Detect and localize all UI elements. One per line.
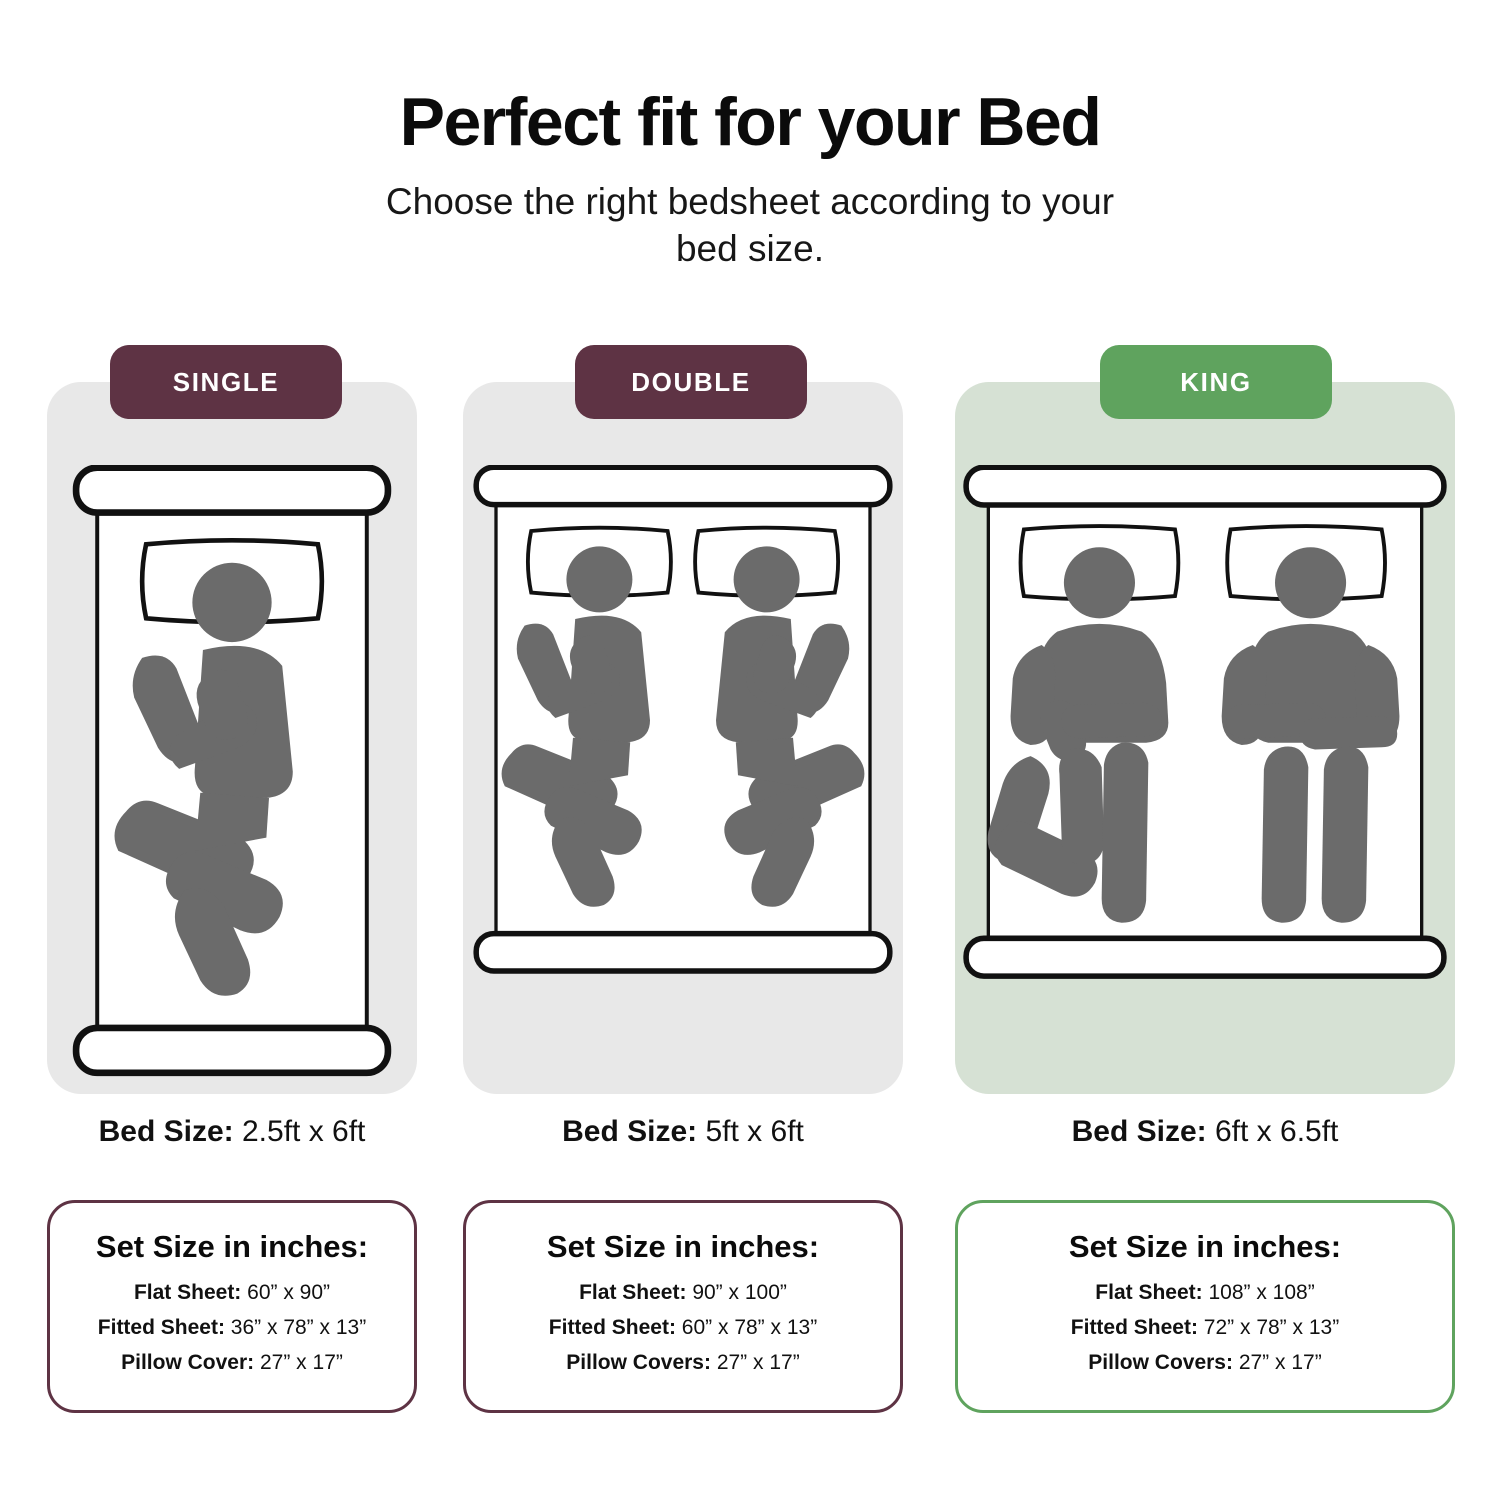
bedsize-label: Bed Size: — [562, 1115, 697, 1148]
bedsize-label: Bed Size: — [99, 1115, 234, 1148]
bed-illustration-single — [47, 465, 417, 1086]
page-subtitle: Choose the right bedsheet according to y… — [370, 178, 1130, 273]
row-label: Fitted Sheet: — [98, 1316, 225, 1339]
bedsize-value: 6ft x 6.5ft — [1215, 1115, 1338, 1148]
bedsize-caption-double: Bed Size: 5ft x 6ft — [463, 1115, 903, 1149]
bed-illustration-double — [463, 465, 903, 982]
row-label: Pillow Covers: — [1088, 1351, 1233, 1374]
infographic-page: Perfect fit for your Bed Choose the righ… — [0, 0, 1500, 1500]
card-row: Fitted Sheet: 60” x 78” x 13” — [480, 1316, 886, 1340]
row-value: 27” x 17” — [1239, 1351, 1322, 1374]
row-label: Flat Sheet: — [579, 1281, 686, 1304]
row-value: 72” x 78” x 13” — [1204, 1316, 1339, 1339]
row-label: Pillow Cover: — [121, 1351, 254, 1374]
card-row: Fitted Sheet: 36” x 78” x 13” — [64, 1316, 400, 1340]
badge-double[interactable]: DOUBLE — [575, 345, 807, 419]
row-value: 27” x 17” — [717, 1351, 800, 1374]
badge-single[interactable]: SINGLE — [110, 345, 342, 419]
bed-size-columns: SINGLE — [0, 345, 1500, 1445]
set-size-card-single: Set Size in inches: Flat Sheet: 60” x 90… — [47, 1200, 417, 1413]
row-label: Fitted Sheet: — [1071, 1316, 1198, 1339]
card-title: Set Size in inches: — [64, 1229, 400, 1265]
bedsize-value: 5ft x 6ft — [705, 1115, 803, 1148]
row-value: 60” x 90” — [247, 1281, 330, 1304]
set-size-card-double: Set Size in inches: Flat Sheet: 90” x 10… — [463, 1200, 903, 1413]
row-label: Flat Sheet: — [134, 1281, 241, 1304]
bedsize-caption-single: Bed Size: 2.5ft x 6ft — [47, 1115, 417, 1149]
row-label: Pillow Covers: — [566, 1351, 711, 1374]
row-value: 90” x 100” — [692, 1281, 787, 1304]
row-value: 27” x 17” — [260, 1351, 343, 1374]
bedsize-label: Bed Size: — [1072, 1115, 1207, 1148]
set-size-card-king: Set Size in inches: Flat Sheet: 108” x 1… — [955, 1200, 1455, 1413]
bedsize-caption-king: Bed Size: 6ft x 6.5ft — [955, 1115, 1455, 1149]
row-label: Flat Sheet: — [1095, 1281, 1202, 1304]
bedsize-value: 2.5ft x 6ft — [242, 1115, 365, 1148]
card-title: Set Size in inches: — [972, 1229, 1438, 1265]
row-value: 108” x 108” — [1208, 1281, 1314, 1304]
badge-king[interactable]: KING — [1100, 345, 1332, 419]
card-row: Flat Sheet: 60” x 90” — [64, 1281, 400, 1305]
card-row: Pillow Covers: 27” x 17” — [480, 1351, 886, 1375]
card-row: Flat Sheet: 108” x 108” — [972, 1281, 1438, 1305]
card-row: Flat Sheet: 90” x 100” — [480, 1281, 886, 1305]
row-label: Fitted Sheet: — [549, 1316, 676, 1339]
header: Perfect fit for your Bed Choose the righ… — [0, 88, 1500, 273]
page-title: Perfect fit for your Bed — [0, 88, 1500, 156]
card-row: Pillow Covers: 27” x 17” — [972, 1351, 1438, 1375]
bed-illustration-king — [955, 465, 1455, 987]
card-row: Fitted Sheet: 72” x 78” x 13” — [972, 1316, 1438, 1340]
row-value: 60” x 78” x 13” — [682, 1316, 817, 1339]
row-value: 36” x 78” x 13” — [231, 1316, 366, 1339]
card-row: Pillow Cover: 27” x 17” — [64, 1351, 400, 1375]
card-title: Set Size in inches: — [480, 1229, 886, 1265]
